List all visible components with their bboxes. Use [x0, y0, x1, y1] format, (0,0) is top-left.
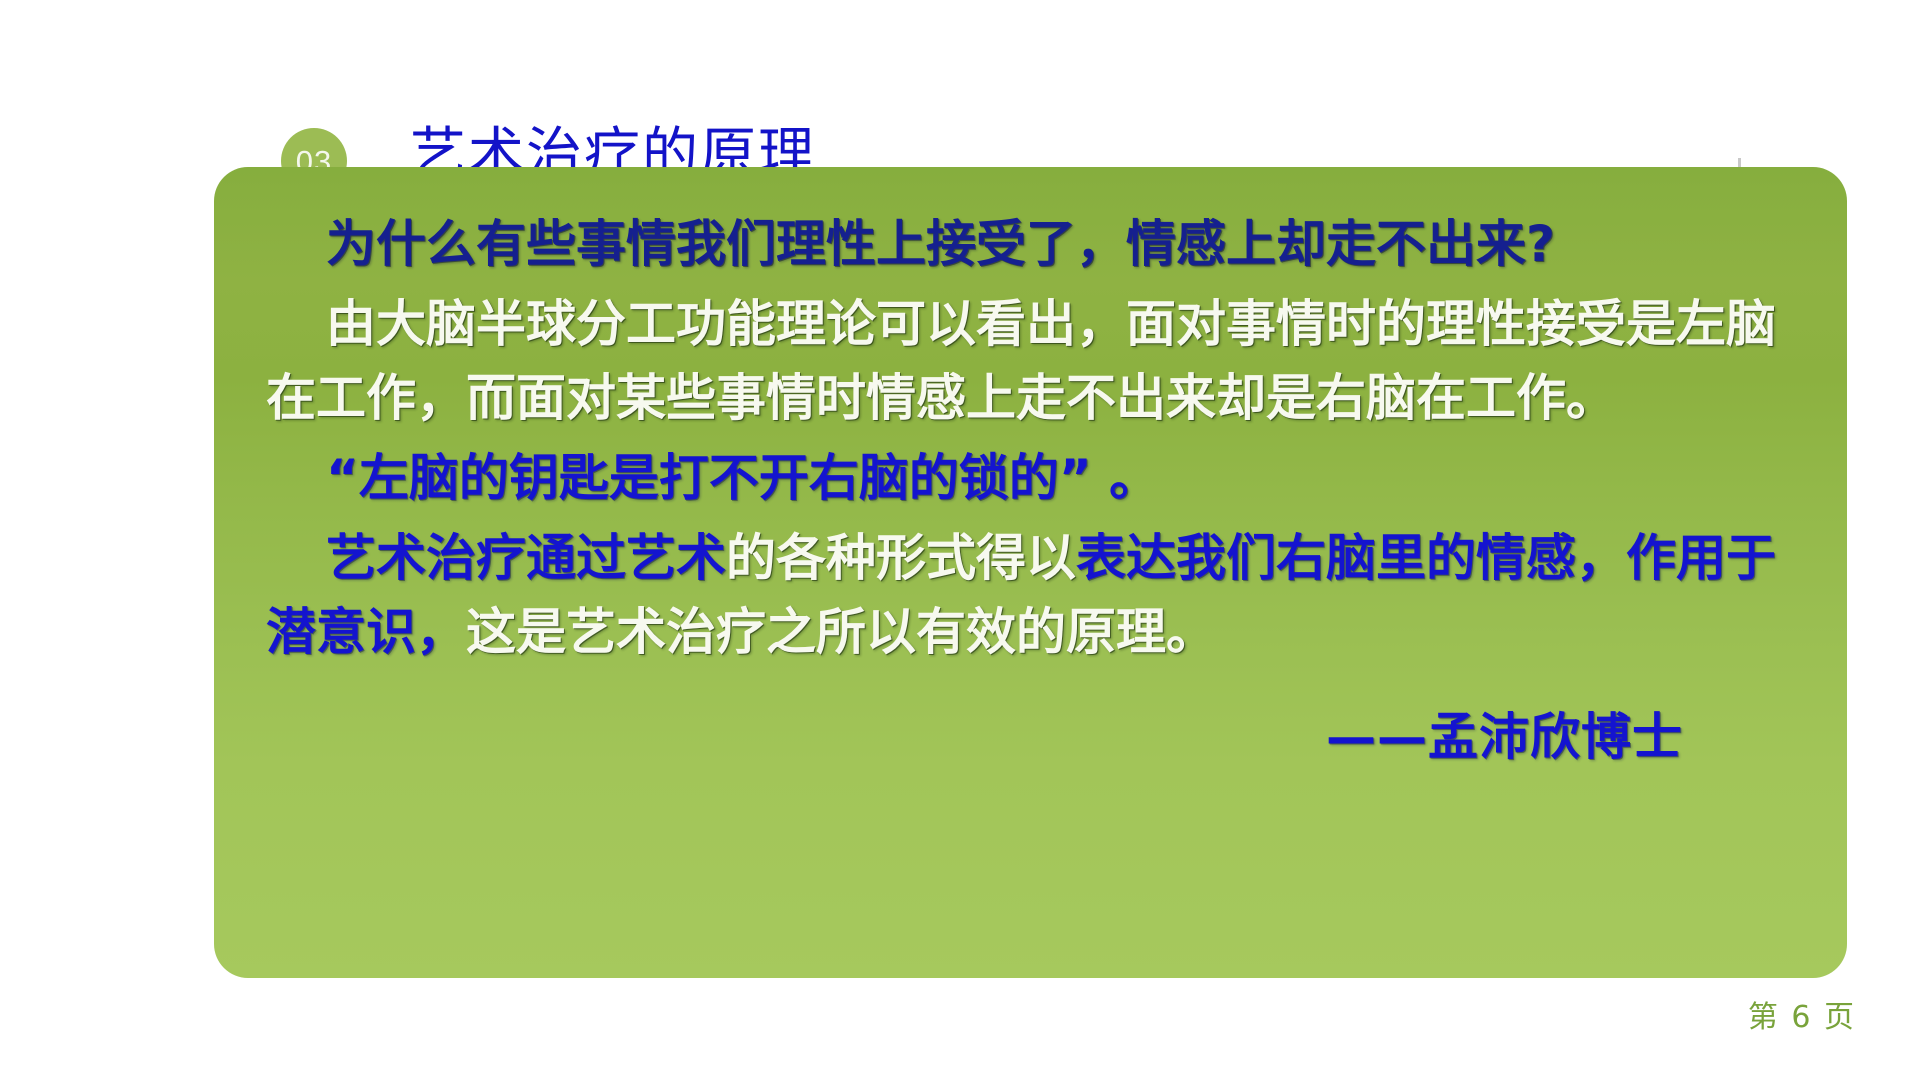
- content-panel: 为什么有些事情我们理性上接受了，情感上却走不出来? 由大脑半球分工功能理论可以看…: [214, 167, 1847, 978]
- slide-header: 03 艺术治疗的原理: [0, 58, 1920, 148]
- conclusion-segment-a: 艺术治疗通过艺术: [326, 529, 726, 587]
- paragraph-conclusion: 艺术治疗通过艺术的各种形式得以表达我们右脑里的情感，作用于潜意识，这是艺术治疗之…: [266, 521, 1795, 669]
- paragraph-explanation: 由大脑半球分工功能理论可以看出，面对事情时的理性接受是左脑在工作，而面对某些事情…: [266, 287, 1795, 435]
- paragraph-question: 为什么有些事情我们理性上接受了，情感上却走不出来?: [266, 207, 1795, 281]
- paragraph-quote: “左脑的钥匙是打不开右脑的锁的” 。: [266, 441, 1795, 515]
- attribution-text: ——孟沛欣博士: [266, 697, 1795, 769]
- conclusion-segment-d: 这是艺术治疗之所以有效的原理。: [466, 603, 1216, 661]
- page-number: 第 6 页: [1748, 992, 1856, 1036]
- conclusion-segment-b: 的各种形式得以: [726, 529, 1076, 587]
- slide: 03 艺术治疗的原理 为什么有些事情我们理性上接受了，情感上却走不出来? 由大脑…: [0, 0, 1920, 1080]
